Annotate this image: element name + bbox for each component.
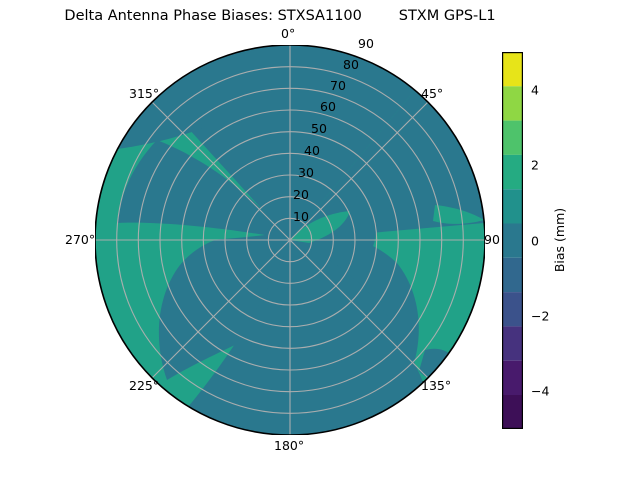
- colorbar-axis-label: Bias (mm): [552, 208, 567, 272]
- polar-plot-svg: [95, 45, 485, 435]
- radial-tick-90: 90: [358, 36, 374, 51]
- page-title: Delta Antenna Phase Biases: STXSA1100 ST…: [0, 8, 560, 24]
- angular-tick-270: 270°: [65, 232, 95, 247]
- figure-canvas: Delta Antenna Phase Biases: STXSA1100 ST…: [0, 0, 640, 480]
- radial-tick-80: 80: [343, 57, 359, 72]
- angular-tick-135: 135°: [421, 378, 451, 393]
- colorbar-svg: [502, 52, 523, 429]
- radial-tick-20: 20: [293, 187, 309, 202]
- radial-tick-10: 10: [293, 209, 309, 224]
- angular-tick-45: 45°: [421, 86, 443, 101]
- radial-tick-70: 70: [330, 78, 346, 93]
- colorbar-tick-4: 4: [531, 82, 539, 97]
- radial-tick-30: 30: [298, 165, 314, 180]
- colorbar-tick-neg4: −4: [531, 384, 549, 399]
- angular-tick-315: 315°: [129, 86, 159, 101]
- angular-gridlines: [95, 45, 485, 435]
- polar-plot: 10 20 30 40 50 60 70 80 90: [95, 45, 485, 435]
- colorbar: [502, 52, 523, 429]
- angular-tick-0: 0°: [281, 26, 295, 41]
- colorbar-tick-2: 2: [531, 158, 539, 173]
- radial-tick-50: 50: [311, 121, 327, 136]
- colorbar-tick-neg2: −2: [531, 308, 549, 323]
- colorbar-tick-0: 0: [531, 233, 539, 248]
- angular-tick-225: 225°: [129, 378, 159, 393]
- colorbar-bands: [502, 52, 523, 429]
- radial-tick-60: 60: [320, 99, 336, 114]
- angular-tick-90: 90: [484, 232, 500, 247]
- angular-tick-180: 180°: [274, 438, 304, 453]
- radial-tick-40: 40: [304, 143, 320, 158]
